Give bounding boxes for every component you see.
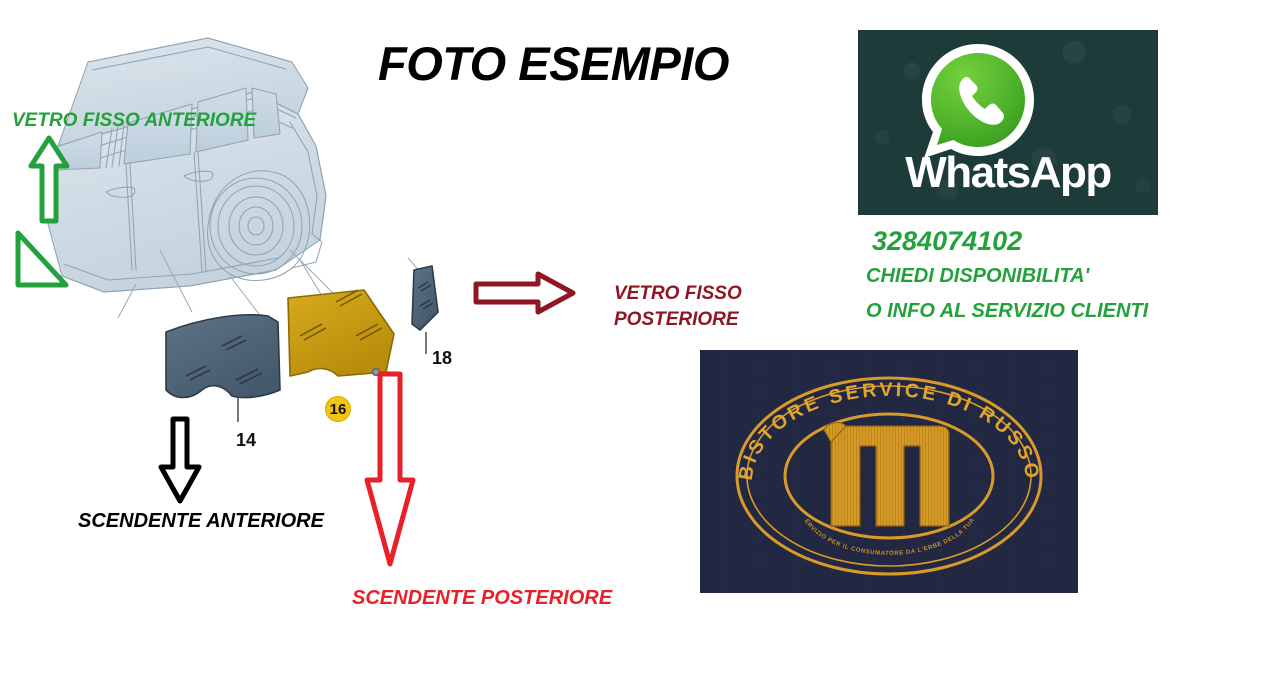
callout-vetro-fisso-posteriore: VETRO FISSO POSTERIORE <box>614 281 742 333</box>
arrow-right-outline-maroon-icon <box>472 270 577 321</box>
contact-phone-number: 3284074102 <box>872 226 1022 257</box>
company-logo: MRICAMBISTORE SERVICE DI RUSSO MARCO AL … <box>700 350 1078 593</box>
arrow-down-outline-red-icon <box>363 370 417 575</box>
contact-line-customer-service: O INFO AL SERVIZIO CLIENTI <box>866 300 1148 323</box>
part-number-18: 18 <box>432 348 452 369</box>
callout-scendente-anteriore: SCENDENTE ANTERIORE <box>78 510 324 533</box>
poster-canvas: 14 16 17 18 FOTO ESEMPIO VETRO FISSO ANT… <box>0 0 1264 678</box>
arrow-down-outline-black-icon <box>158 415 202 510</box>
logo-monogram <box>820 420 960 535</box>
triangle-outline-green-icon <box>8 228 70 295</box>
part-number-badge-16: 16 <box>325 396 351 422</box>
callout-vetro-fisso-anteriore: VETRO FISSO ANTERIORE <box>12 110 256 132</box>
contact-line-availability: CHIEDI DISPONIBILITA' <box>866 265 1089 288</box>
page-title: FOTO ESEMPIO <box>378 36 798 91</box>
whatsapp-banner: WhatsApp <box>858 30 1158 215</box>
callout-scendente-posteriore: SCENDENTE POSTERIORE <box>352 587 612 610</box>
whatsapp-wordmark: WhatsApp <box>858 148 1158 198</box>
part-number-14: 14 <box>236 430 256 451</box>
arrow-up-outline-green-icon <box>28 135 70 230</box>
